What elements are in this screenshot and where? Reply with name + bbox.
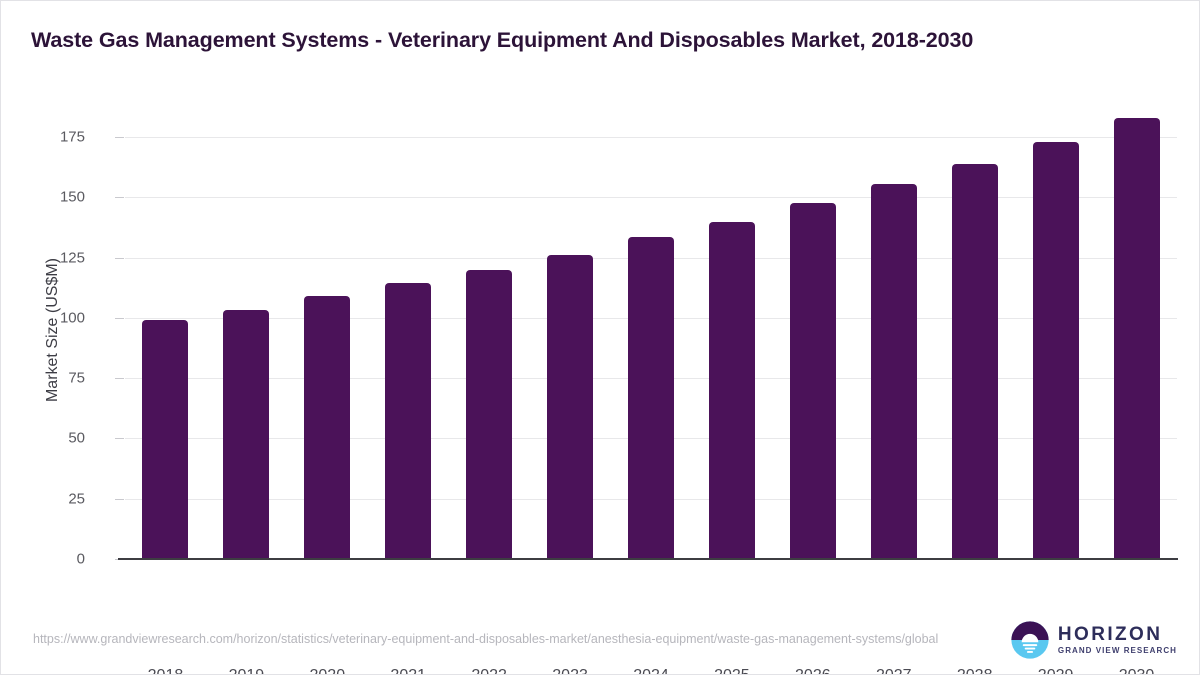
bar[interactable] xyxy=(1114,118,1160,559)
x-tick-label: 2027 xyxy=(853,667,934,675)
x-tick-label: 2020 xyxy=(287,667,368,675)
logo-tagline: GRAND VIEW RESEARCH xyxy=(1058,645,1177,656)
y-tick-label: 25 xyxy=(25,490,85,507)
x-tick-label: 2025 xyxy=(691,667,772,675)
y-tick-label: 175 xyxy=(25,129,85,146)
horizon-logo-text: HORIZON GRAND VIEW RESEARCH xyxy=(1058,624,1177,656)
bar-group[interactable] xyxy=(611,101,692,559)
bar-group[interactable] xyxy=(530,101,611,559)
bar-group[interactable] xyxy=(853,101,934,559)
bar[interactable] xyxy=(223,310,269,559)
bar[interactable] xyxy=(547,255,593,559)
x-tick-label: 2026 xyxy=(772,667,853,675)
bar[interactable] xyxy=(385,283,431,559)
bar[interactable] xyxy=(1033,142,1079,559)
y-tick-mark xyxy=(115,499,124,500)
bar-group[interactable] xyxy=(125,101,206,559)
bar-group[interactable] xyxy=(1096,101,1177,559)
y-tick-label: 50 xyxy=(25,430,85,447)
y-tick-label: 150 xyxy=(25,189,85,206)
logo-wordmark: HORIZON xyxy=(1058,624,1177,645)
x-tick-label: 2021 xyxy=(368,667,449,675)
x-tick-label: 2030 xyxy=(1096,667,1177,675)
x-tick-label: 2024 xyxy=(611,667,692,675)
bar-group[interactable] xyxy=(368,101,449,559)
y-tick-mark xyxy=(115,197,124,198)
y-tick-label: 0 xyxy=(25,551,85,568)
horizon-logo[interactable]: HORIZON GRAND VIEW RESEARCH xyxy=(1011,621,1177,659)
x-tick-label: 2018 xyxy=(125,667,206,675)
bar-group[interactable] xyxy=(691,101,772,559)
bar-group[interactable] xyxy=(287,101,368,559)
bar[interactable] xyxy=(871,184,917,559)
bar[interactable] xyxy=(709,222,755,559)
bar[interactable] xyxy=(304,296,350,559)
bar[interactable] xyxy=(466,270,512,559)
bar[interactable] xyxy=(952,164,998,559)
page-title: Waste Gas Management Systems - Veterinar… xyxy=(31,28,1171,53)
bar[interactable] xyxy=(790,203,836,559)
bar-group[interactable] xyxy=(934,101,1015,559)
x-tick-label: 2029 xyxy=(1015,667,1096,675)
source-url[interactable]: https://www.grandviewresearch.com/horizo… xyxy=(33,631,963,648)
bar[interactable] xyxy=(142,320,188,559)
y-tick-label: 100 xyxy=(25,309,85,326)
x-axis-line xyxy=(118,558,1178,560)
x-tick-label: 2023 xyxy=(530,667,611,675)
x-tick-label: 2028 xyxy=(934,667,1015,675)
y-tick-mark xyxy=(115,378,124,379)
bar-group[interactable] xyxy=(772,101,853,559)
horizon-logo-icon xyxy=(1011,621,1049,659)
y-tick-mark xyxy=(115,318,124,319)
y-tick-label: 75 xyxy=(25,370,85,387)
plot-area: Market Size (US$M) 0255075100125150175 2… xyxy=(125,101,1177,559)
bar-group[interactable] xyxy=(449,101,530,559)
bar[interactable] xyxy=(628,237,674,559)
x-tick-label: 2022 xyxy=(449,667,530,675)
y-tick-mark xyxy=(115,137,124,138)
y-tick-label: 125 xyxy=(25,249,85,266)
y-tick-mark xyxy=(115,258,124,259)
chart-page: Waste Gas Management Systems - Veterinar… xyxy=(0,0,1200,675)
x-tick-label: 2019 xyxy=(206,667,287,675)
bar-series xyxy=(125,101,1177,559)
bar-group[interactable] xyxy=(206,101,287,559)
y-tick-mark xyxy=(115,438,124,439)
bar-group[interactable] xyxy=(1015,101,1096,559)
